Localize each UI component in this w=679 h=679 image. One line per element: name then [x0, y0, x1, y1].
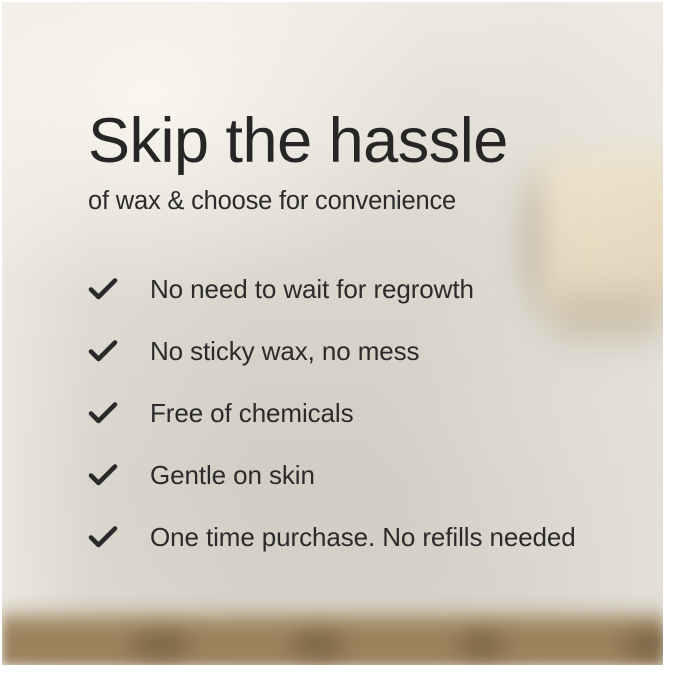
check-icon: [88, 463, 150, 487]
list-item: No sticky wax, no mess: [88, 320, 628, 382]
list-item-label: No need to wait for regrowth: [150, 274, 474, 305]
page-subtitle: of wax & choose for convenience: [88, 187, 456, 216]
list-item: No need to wait for regrowth: [88, 258, 628, 320]
check-icon: [88, 401, 150, 425]
list-item-label: One time purchase. No refills needed: [150, 522, 576, 553]
product-infographic: Skip the hassle of wax & choose for conv…: [0, 0, 679, 679]
overlay-content: Skip the hassle of wax & choose for conv…: [0, 0, 679, 679]
list-item: Free of chemicals: [88, 382, 628, 444]
check-icon: [88, 277, 150, 301]
list-item-label: Gentle on skin: [150, 460, 315, 491]
page-title: Skip the hassle: [88, 108, 508, 174]
list-item: Gentle on skin: [88, 444, 628, 506]
list-item-label: No sticky wax, no mess: [150, 336, 419, 367]
check-icon: [88, 525, 150, 549]
list-item-label: Free of chemicals: [150, 398, 353, 429]
list-item: One time purchase. No refills needed: [88, 506, 628, 568]
benefit-list: No need to wait for regrowth No sticky w…: [88, 258, 628, 568]
check-icon: [88, 339, 150, 363]
